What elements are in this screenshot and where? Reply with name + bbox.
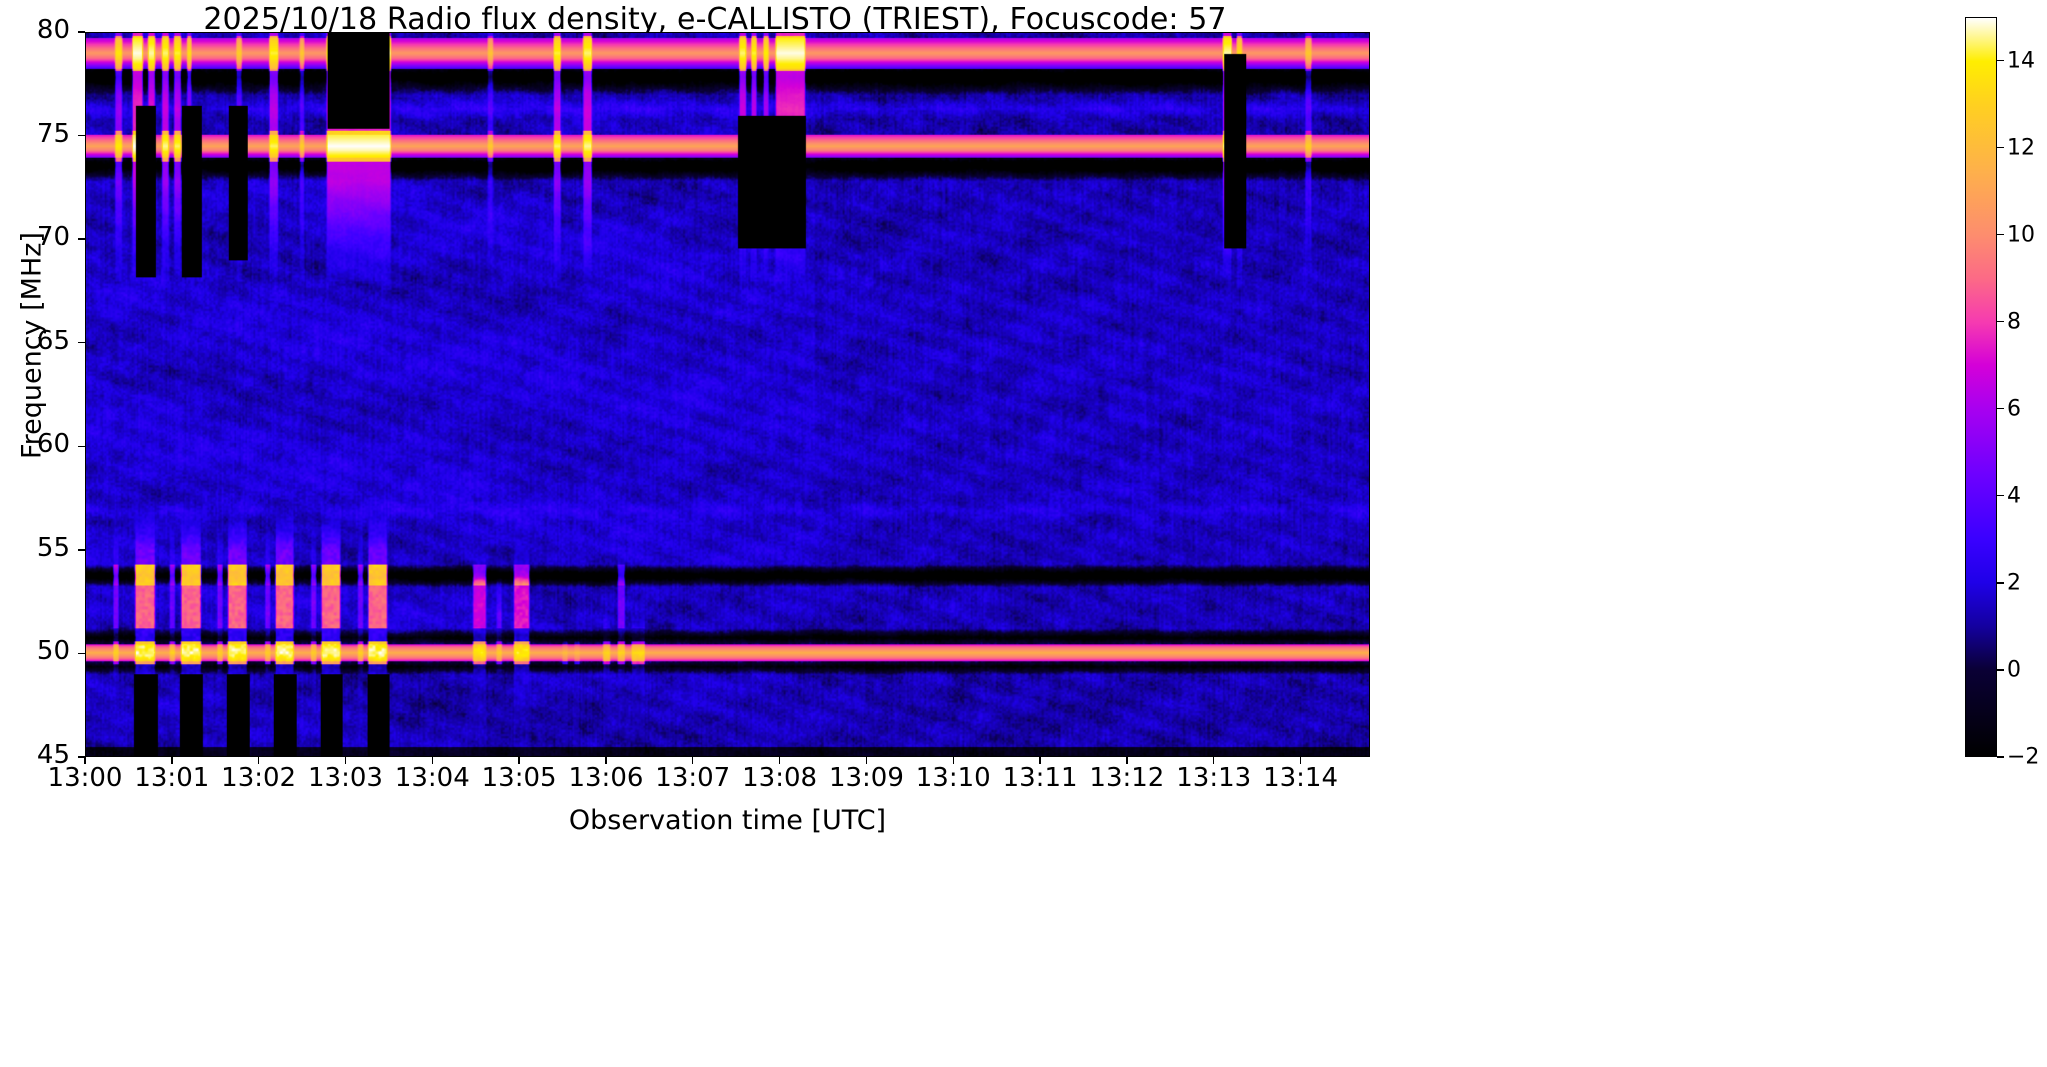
x-tick-label-1300: 13:00 xyxy=(48,763,123,793)
y-tick-label-75: 75 xyxy=(0,119,70,149)
x-tick-label-1309: 13:09 xyxy=(829,763,904,793)
colorbar-tick-mark xyxy=(1997,60,2004,61)
colorbar-tick-mark xyxy=(1997,234,2004,235)
y-tick-label-55: 55 xyxy=(0,533,70,563)
x-tick-label-1301: 13:01 xyxy=(134,763,209,793)
y-tick-mark xyxy=(78,135,85,136)
x-tick-label-1304: 13:04 xyxy=(395,763,470,793)
colorbar-tick-mark xyxy=(1997,147,2004,148)
colorbar-tick-label-10: 10 xyxy=(2007,222,2035,247)
x-tick-label-1303: 13:03 xyxy=(308,763,383,793)
y-tick-mark xyxy=(78,653,85,654)
y-tick-mark xyxy=(78,238,85,239)
colorbar-tick-label-2: 2 xyxy=(2007,570,2021,595)
x-tick-label-1306: 13:06 xyxy=(568,763,643,793)
x-tick-label-1312: 13:12 xyxy=(1089,763,1164,793)
colorbar[interactable] xyxy=(1965,17,1997,757)
y-tick-mark xyxy=(78,31,85,32)
x-tick-label-1305: 13:05 xyxy=(482,763,557,793)
colorbar-tick-label-0: 0 xyxy=(2007,657,2021,682)
colorbar-tick-label-14: 14 xyxy=(2007,48,2035,73)
colorbar-tick-label-6: 6 xyxy=(2007,396,2021,421)
colorbar-gradient xyxy=(1966,18,1996,756)
colorbar-tick-label-12: 12 xyxy=(2007,135,2035,160)
x-tick-label-1311: 13:11 xyxy=(1003,763,1078,793)
x-tick-label-1310: 13:10 xyxy=(916,763,991,793)
y-tick-mark xyxy=(78,446,85,447)
x-tick-label-1313: 13:13 xyxy=(1176,763,1251,793)
y-tick-label-65: 65 xyxy=(0,326,70,356)
x-tick-label-1307: 13:07 xyxy=(655,763,730,793)
colorbar-tick-mark xyxy=(1997,582,2004,583)
x-tick-label-1308: 13:08 xyxy=(742,763,817,793)
colorbar-tick-mark xyxy=(1997,495,2004,496)
spectrogram-plot[interactable] xyxy=(85,32,1370,757)
colorbar-tick-label-8: 8 xyxy=(2007,309,2021,334)
x-tick-label-1314: 13:14 xyxy=(1263,763,1338,793)
y-tick-label-50: 50 xyxy=(0,636,70,666)
spectrogram-image xyxy=(86,33,1369,756)
y-tick-label-80: 80 xyxy=(0,15,70,45)
colorbar-tick-label-neg2: −2 xyxy=(2007,745,2039,770)
colorbar-tick-label-4: 4 xyxy=(2007,483,2021,508)
y-tick-label-70: 70 xyxy=(0,222,70,252)
x-tick-label-1302: 13:02 xyxy=(221,763,296,793)
y-tick-label-60: 60 xyxy=(0,429,70,459)
colorbar-tick-mark xyxy=(1997,408,2004,409)
figure-canvas: 2025/10/18 Radio flux density, e-CALLIST… xyxy=(0,0,2047,1067)
colorbar-tick-mark xyxy=(1997,669,2004,670)
x-axis-label: Observation time [UTC] xyxy=(85,805,1370,836)
y-tick-mark xyxy=(78,342,85,343)
colorbar-tick-mark xyxy=(1997,321,2004,322)
y-tick-mark xyxy=(78,549,85,550)
colorbar-tick-mark xyxy=(1997,756,2004,757)
